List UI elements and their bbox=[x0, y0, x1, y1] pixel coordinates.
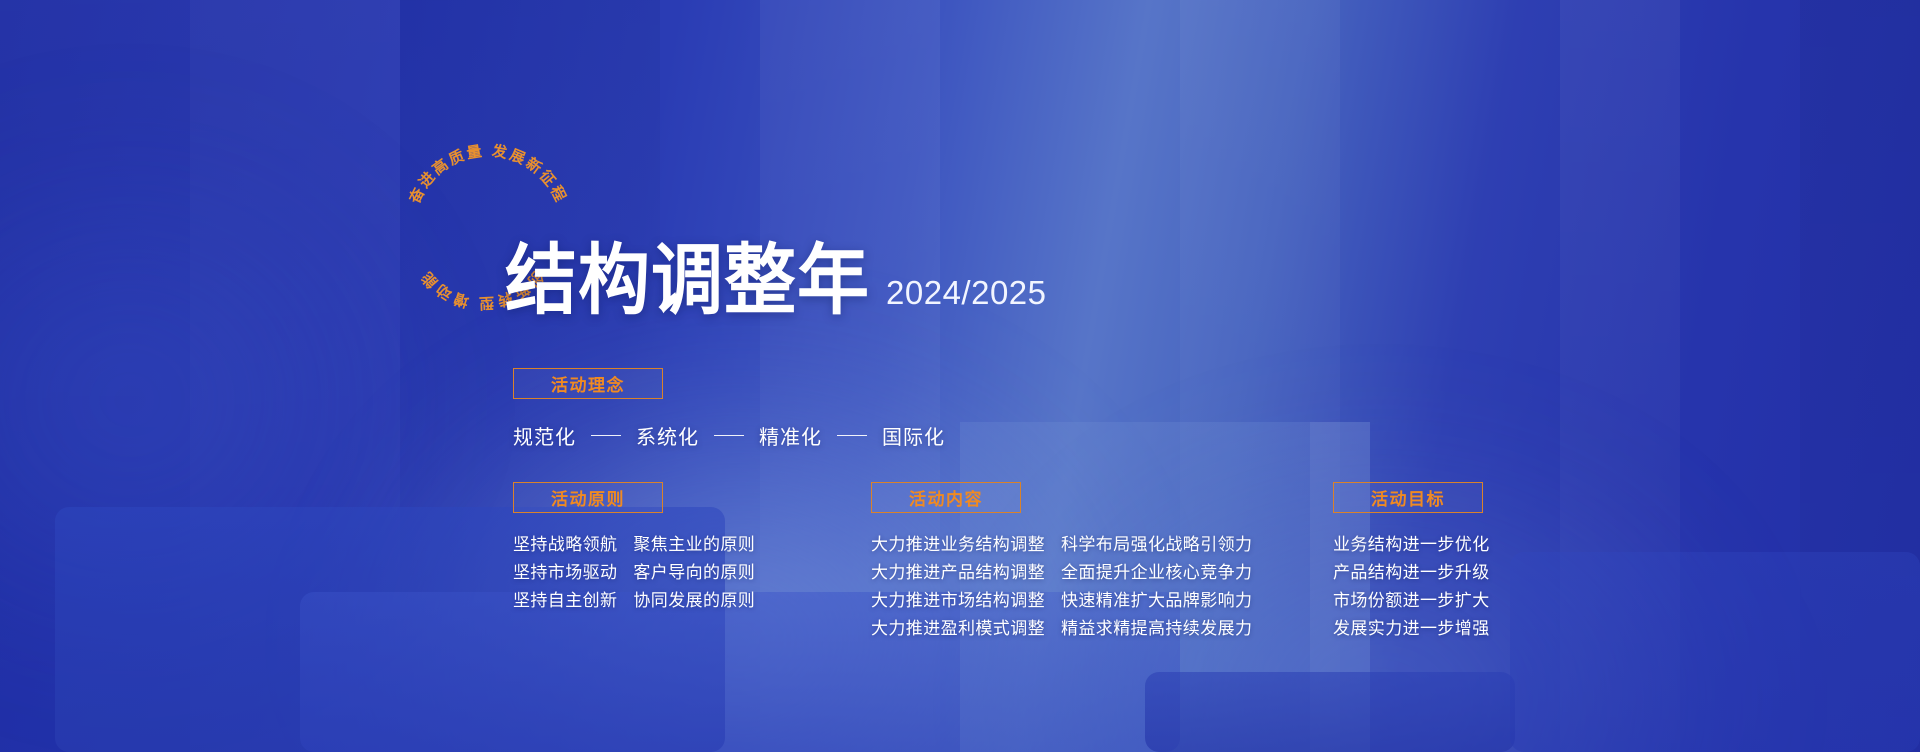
column-activity-principle: 坚持战略领航聚焦主业的原则坚持市场驱动客户导向的原则坚持自主创新协同发展的原则 bbox=[513, 534, 755, 618]
list-item: 大力推进盈利模式调整精益求精提高持续发展力 bbox=[871, 618, 1252, 640]
list-item-text: 业务结构进一步优化 bbox=[1333, 534, 1490, 556]
list-item-text: 全面提升企业核心竞争力 bbox=[1061, 562, 1252, 584]
list-item: 市场份额进一步扩大 bbox=[1333, 590, 1490, 612]
page-title: 结构调整年 bbox=[505, 242, 870, 319]
badge-label: 活动目标 bbox=[1371, 485, 1445, 510]
list-item: 坚持市场驱动客户导向的原则 bbox=[513, 562, 755, 584]
title-year: 2024/2025 bbox=[886, 274, 1047, 319]
list-item-text: 聚焦主业的原则 bbox=[633, 534, 755, 556]
separator-dash-icon bbox=[837, 435, 867, 437]
title-block: 结构调整年 2024/2025 bbox=[505, 247, 1047, 319]
list-item-text: 快速精准扩大品牌影响力 bbox=[1061, 590, 1252, 612]
list-item: 大力推进业务结构调整科学布局强化战略引领力 bbox=[871, 534, 1252, 556]
separator-dash-icon bbox=[591, 435, 621, 437]
skyline-block bbox=[1510, 552, 1920, 752]
list-item-text: 客户导向的原则 bbox=[633, 562, 755, 584]
badge-label: 活动内容 bbox=[909, 485, 983, 510]
ring-text-top: 奋进高质量 发展新征程 bbox=[405, 142, 570, 208]
list-item-text: 精益求精提高持续发展力 bbox=[1061, 618, 1252, 640]
list-item: 大力推进产品结构调整全面提升企业核心竞争力 bbox=[871, 562, 1252, 584]
list-item-text: 坚持市场驱动 bbox=[513, 562, 617, 584]
banner-canvas: 奋进高质量 发展新征程 创新转型 增动能 结构调整年 2024/2025 活动理… bbox=[0, 0, 1920, 752]
column-activity-content: 大力推进业务结构调整科学布局强化战略引领力大力推进产品结构调整全面提升企业核心竞… bbox=[871, 534, 1252, 646]
list-item-text: 大力推进盈利模式调整 bbox=[871, 618, 1045, 640]
concept-item: 规范化 bbox=[513, 421, 576, 450]
list-item-text: 协同发展的原则 bbox=[633, 590, 755, 612]
list-item: 坚持战略领航聚焦主业的原则 bbox=[513, 534, 755, 556]
list-item-text: 产品结构进一步升级 bbox=[1333, 562, 1490, 584]
list-item-text: 坚持自主创新 bbox=[513, 590, 617, 612]
list-item-text: 市场份额进一步扩大 bbox=[1333, 590, 1490, 612]
separator-dash-icon bbox=[714, 435, 744, 437]
concept-item: 精准化 bbox=[759, 421, 822, 450]
list-item-text: 大力推进业务结构调整 bbox=[871, 534, 1045, 556]
concept-item: 系统化 bbox=[636, 421, 699, 450]
badge-activity-goal[interactable]: 活动目标 bbox=[1333, 482, 1483, 513]
list-item: 业务结构进一步优化 bbox=[1333, 534, 1490, 556]
badge-label: 活动理念 bbox=[551, 371, 625, 396]
column-activity-goal: 业务结构进一步优化产品结构进一步升级市场份额进一步扩大发展实力进一步增强 bbox=[1333, 534, 1490, 646]
list-item: 大力推进市场结构调整快速精准扩大品牌影响力 bbox=[871, 590, 1252, 612]
badge-label: 活动原则 bbox=[551, 485, 625, 510]
list-item: 发展实力进一步增强 bbox=[1333, 618, 1490, 640]
badge-activity-principle[interactable]: 活动原则 bbox=[513, 482, 663, 513]
skyline-block bbox=[1145, 672, 1515, 752]
concept-item: 国际化 bbox=[882, 421, 945, 450]
list-item-text: 科学布局强化战略引领力 bbox=[1061, 534, 1252, 556]
list-item-text: 大力推进产品结构调整 bbox=[871, 562, 1045, 584]
badge-activity-content[interactable]: 活动内容 bbox=[871, 482, 1021, 513]
list-item: 坚持自主创新协同发展的原则 bbox=[513, 590, 755, 612]
badge-activity-concept[interactable]: 活动理念 bbox=[513, 368, 663, 399]
list-item-text: 发展实力进一步增强 bbox=[1333, 618, 1490, 640]
list-item-text: 坚持战略领航 bbox=[513, 534, 617, 556]
concept-list: 规范化 系统化 精准化 国际化 bbox=[513, 421, 945, 450]
list-item: 产品结构进一步升级 bbox=[1333, 562, 1490, 584]
list-item-text: 大力推进市场结构调整 bbox=[871, 590, 1045, 612]
